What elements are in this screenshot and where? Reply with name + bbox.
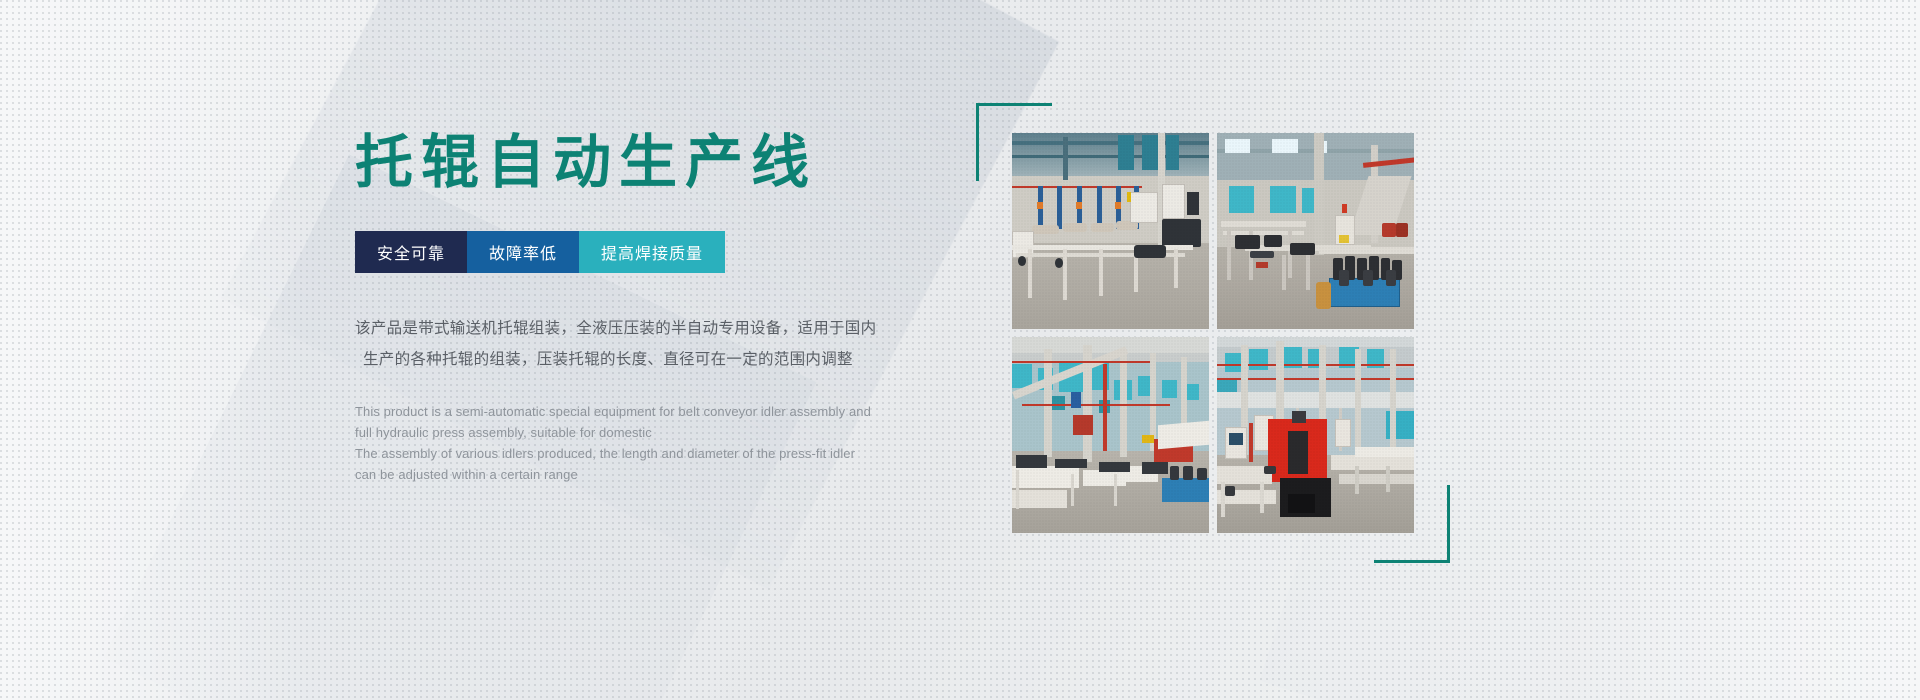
- background-sheen-right: [1580, 0, 1920, 700]
- description-en-line-2: full hydraulic press assembly, suitable …: [355, 422, 915, 443]
- description-cn-line-1: 该产品是带式输送机托辊组装，全液压压装的半自动专用设备，适用于国内: [355, 313, 915, 344]
- corner-bracket-bottom-right-icon: [1374, 485, 1450, 563]
- feature-badge-row: 安全可靠 故障率低 提高焊接质量: [355, 231, 725, 273]
- description-en-line-3: The assembly of various idlers produced,…: [355, 443, 915, 464]
- photo-gallery: [1012, 133, 1414, 533]
- corner-bracket-top-left-icon: [976, 103, 1052, 181]
- description-chinese: 该产品是带式输送机托辊组装，全液压压装的半自动专用设备，适用于国内 生产的各种托…: [355, 313, 915, 375]
- background-sheen-left: [0, 0, 300, 700]
- photo-factory-hall[interactable]: [1012, 337, 1209, 533]
- description-en-line-4: can be adjusted within a certain range: [355, 464, 915, 485]
- badge-improve-weld-quality[interactable]: 提高焊接质量: [579, 231, 725, 273]
- page-title: 托辊自动生产线: [355, 130, 915, 197]
- background-dot-pattern: [0, 0, 1920, 700]
- badge-safe-reliable[interactable]: 安全可靠: [355, 231, 467, 273]
- description-en-line-1: This product is a semi-automatic special…: [355, 401, 915, 422]
- product-banner: 托辊自动生产线 安全可靠 故障率低 提高焊接质量 该产品是带式输送机托辊组装，全…: [0, 0, 1920, 700]
- photo-workshop-bins[interactable]: [1217, 133, 1414, 329]
- description-english: This product is a semi-automatic special…: [355, 401, 915, 485]
- badge-low-failure-rate[interactable]: 故障率低: [467, 231, 579, 273]
- banner-text-column: 托辊自动生产线 安全可靠 故障率低 提高焊接质量 该产品是带式输送机托辊组装，全…: [355, 130, 915, 485]
- description-cn-line-2: 生产的各种托辊的组装，压装托辊的长度、直径可在一定的范围内调整: [355, 344, 915, 375]
- photo-grid: [1012, 133, 1414, 533]
